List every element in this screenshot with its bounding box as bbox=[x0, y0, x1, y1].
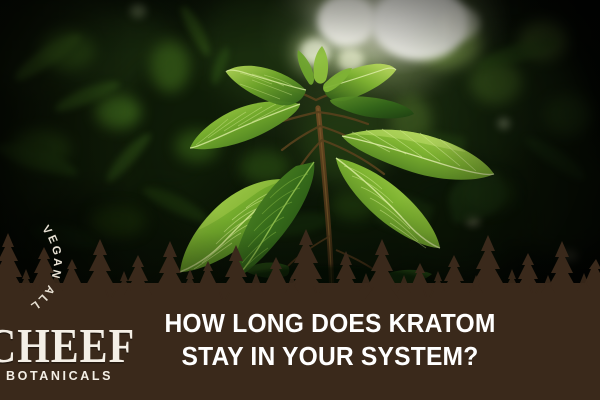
headline-line-1: HOW LONG DOES KRATOM bbox=[127, 308, 532, 341]
kratom-article-banner: VEGAN ALL CHEEF BOTANICALS HOW LONG DOES… bbox=[0, 0, 600, 400]
all-natural-vegan-badge: VEGAN ALL bbox=[0, 196, 70, 328]
article-headline: HOW LONG DOES KRATOM STAY IN YOUR SYSTEM… bbox=[120, 308, 540, 374]
badge-curved-text: VEGAN ALL bbox=[26, 224, 63, 314]
headline-line-2: STAY IN YOUR SYSTEM? bbox=[127, 341, 532, 374]
logo-wordmark: CHEEF bbox=[0, 322, 121, 370]
cheef-botanicals-logo[interactable]: CHEEF BOTANICALS bbox=[0, 322, 118, 384]
